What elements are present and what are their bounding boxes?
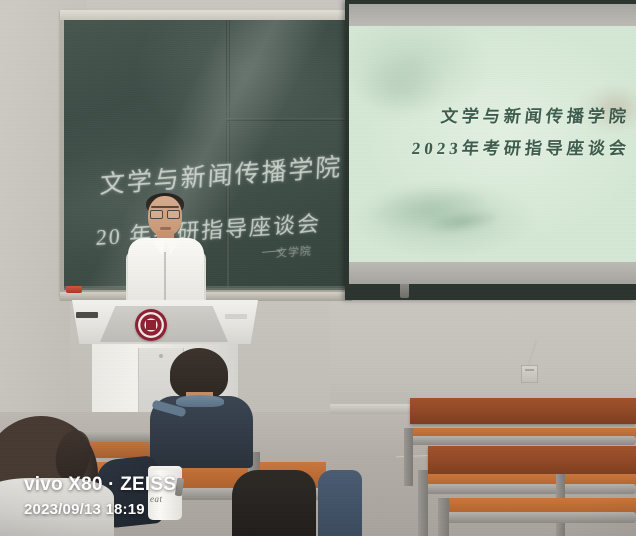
red-chalk-box (66, 286, 82, 293)
blackboard-top-rail (60, 10, 350, 20)
speaker-shirt-placket (164, 252, 166, 304)
slide-ink-wash-top-left (357, 56, 443, 118)
blackboard-panel-divider-vertical (226, 20, 230, 288)
desk-leg-middle-left (418, 470, 428, 536)
chalk-tray (60, 292, 352, 301)
university-emblem-icon (135, 309, 167, 341)
desk-leg-front-left (438, 498, 449, 536)
classroom-photo: 文学与新闻传播学院 20 年考研指导座谈会 文学院 文学与新闻传播学院 2023… (0, 0, 636, 536)
blackboard-chalk-signature: 文学院 (276, 242, 312, 261)
speaker-mouth (160, 227, 171, 230)
bench-rail-middle (418, 484, 636, 494)
blackboard-panel-divider-horizontal (226, 118, 346, 121)
podium-label-right (225, 314, 247, 319)
projection-screen-bottom-band (349, 262, 636, 284)
speaker-shirt (128, 238, 204, 306)
wall-socket-plate[interactable] (521, 365, 538, 383)
slide-title-line-2: 2023年考研指导座谈会 (411, 134, 632, 159)
bench-rail-back (404, 436, 636, 445)
projection-screen-top-band (349, 4, 636, 26)
desk-row-back (410, 398, 636, 424)
student-right-dark-body (232, 470, 316, 536)
student-center-collar (176, 395, 224, 407)
desk-leg-back-left (404, 428, 413, 486)
camera-watermark-model: vivo X80 · ZEISS (24, 474, 176, 496)
speaker-brow (151, 206, 179, 208)
desk-row-middle (428, 446, 636, 476)
speaker-glasses (150, 210, 180, 217)
bench-rail-front (438, 512, 636, 523)
projection-screen-surface: 文学与新闻传播学院 2023年考研指导座谈会 (349, 26, 636, 262)
student-right-jeans (318, 470, 362, 536)
projection-screen-pull-tab[interactable] (400, 284, 409, 298)
podium-label-left (76, 312, 98, 318)
camera-watermark-timestamp: 2023/09/13 18:19 (24, 501, 145, 518)
slide-title-line-1: 文学与新闻传播学院 (440, 102, 632, 127)
